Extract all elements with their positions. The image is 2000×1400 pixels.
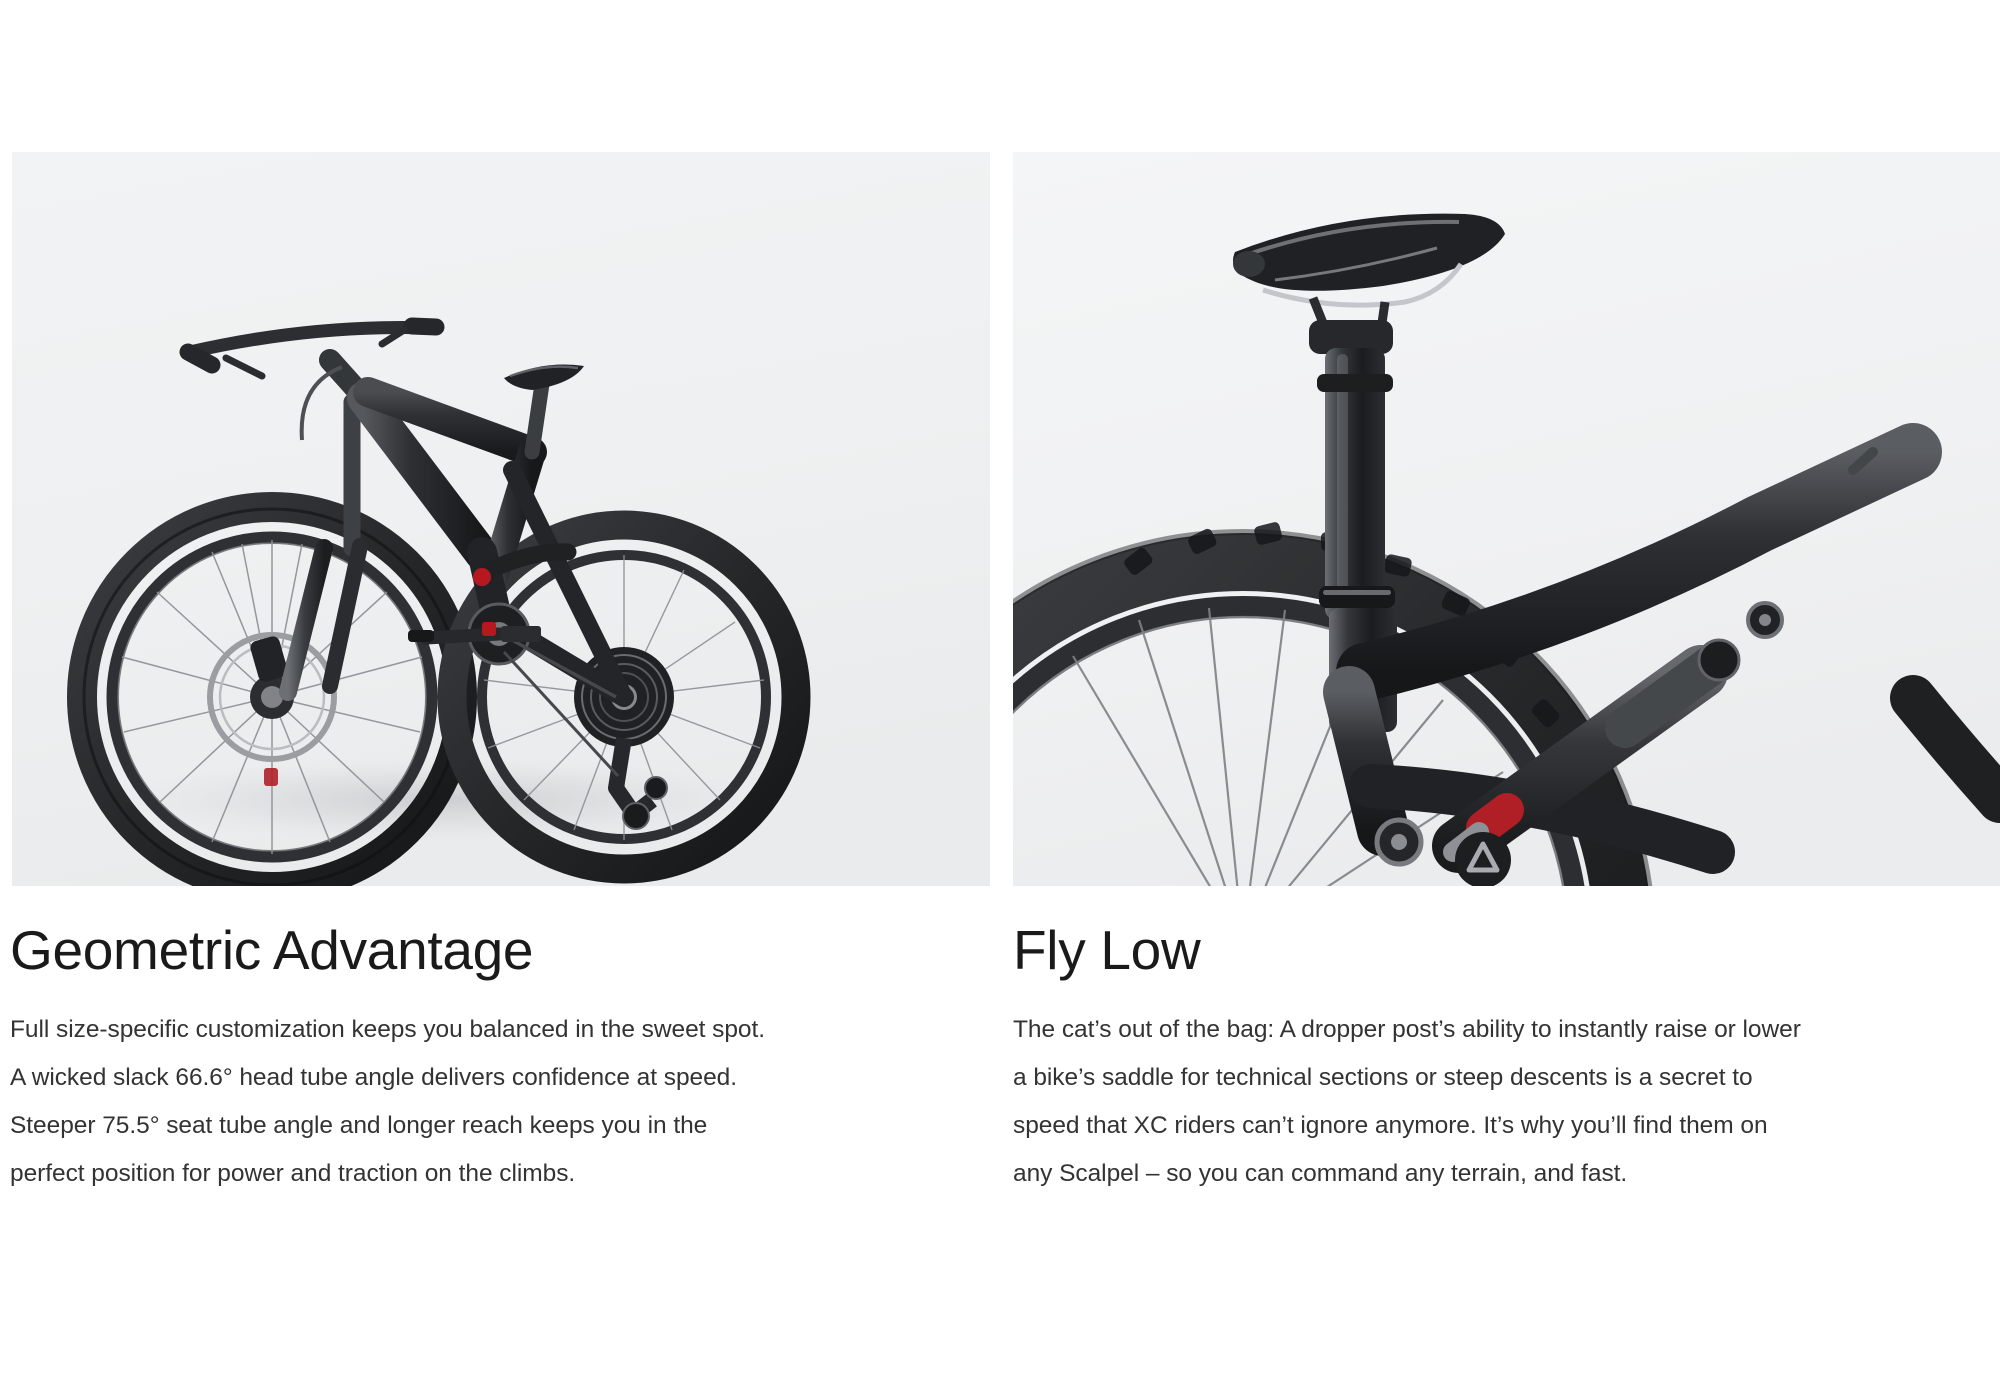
text-geometric-advantage: Geometric Advantage Full size-specific c… [10, 920, 780, 1198]
seat-tube-lower [1349, 692, 1383, 830]
red-accent-front [264, 768, 278, 786]
post-collar-upper [1317, 374, 1393, 392]
shock-red-ring [1483, 810, 1507, 828]
pedal [408, 630, 434, 642]
post-highlight [1337, 354, 1348, 612]
feature-heading-fly-low: Fly Low [1013, 920, 1803, 980]
media-geometric-advantage [12, 152, 990, 886]
feature-body-geometric-advantage: Full size-specific customization keeps y… [10, 980, 780, 1198]
bike-full-view-illustration [12, 152, 990, 886]
red-accent-bb [482, 622, 496, 636]
feature-heading-geometric-advantage: Geometric Advantage [10, 920, 780, 980]
text-fly-low: Fly Low The cat’s out of the bag: A drop… [1013, 920, 1803, 1198]
grip-left [188, 352, 212, 365]
media-fly-low [1013, 152, 2000, 886]
frame-badge [501, 626, 541, 642]
saddle-nose [1233, 251, 1265, 277]
shock-upper-mount [1699, 640, 1739, 680]
seatpost [532, 384, 542, 452]
dropper-post-detail-illustration [1013, 152, 2000, 886]
shock-red-ring [473, 568, 491, 586]
feature-grid-page: Geometric Advantage Full size-specific c… [0, 0, 2000, 1400]
studio-backdrop [1013, 152, 2000, 886]
two-column-grid: Geometric Advantage Full size-specific c… [0, 0, 2000, 1400]
brand-logo-badge [1455, 832, 1511, 886]
feature-body-fly-low: The cat’s out of the bag: A dropper post… [1013, 980, 1803, 1198]
grip-right [412, 326, 436, 327]
